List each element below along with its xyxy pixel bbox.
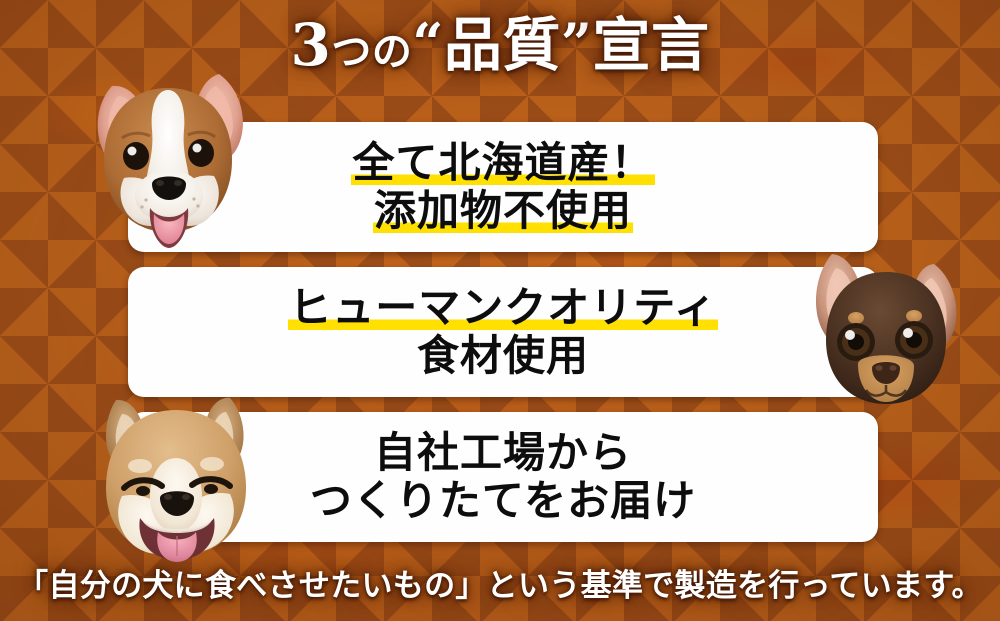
claim-card-1-line-2: 添加物不使用	[351, 187, 654, 235]
claim-card-2-line-2: 食材使用	[288, 332, 717, 380]
claim-card-1-text: 全て北海道産！ 添加物不使用	[351, 139, 654, 236]
dog-photo-chihuahua	[798, 248, 976, 410]
claim-card-1-line-2-highlight: 添加物不使用	[373, 186, 633, 235]
claim-card-2-line-1-highlight: ヒューマンクオリティ	[288, 283, 717, 332]
dog-photo-shiba-inu	[80, 392, 280, 562]
claim-card-2-line-1: ヒューマンクオリティ	[288, 284, 717, 332]
claim-card-3-line-2: つくりたてをお届け	[310, 477, 696, 525]
claim-card-3-text: 自社工場から つくりたてをお届け	[310, 429, 696, 526]
page-title: 3つの“品質”宣言	[0, 14, 1000, 77]
page-title-quote-close: ”	[561, 11, 593, 75]
footer-caption: 「自分の犬に食べさせたいもの」という基準で製造を行っています。	[0, 560, 1000, 605]
chihuahua-icon	[798, 248, 976, 410]
shiba-inu-icon	[80, 392, 280, 562]
dog-photo-jack-russell-puppy	[78, 60, 258, 250]
page-title-keyword: 品質	[444, 11, 561, 79]
claim-card-3-line-1: 自社工場から	[310, 429, 696, 477]
jack-russell-puppy-icon	[78, 60, 258, 250]
claim-card-1-line-1-highlight: 全て北海道産！	[351, 138, 654, 187]
page-title-quote-open: “	[412, 11, 444, 75]
page-title-number: 3	[290, 11, 331, 79]
claim-card-1-line-1: 全て北海道産！	[351, 139, 654, 187]
page-title-particle: つの	[331, 28, 412, 75]
claim-card-2-text: ヒューマンクオリティ 食材使用	[288, 284, 717, 381]
claim-card-2: ヒューマンクオリティ 食材使用	[128, 267, 878, 397]
page-title-suffix: 宣言	[592, 11, 709, 79]
